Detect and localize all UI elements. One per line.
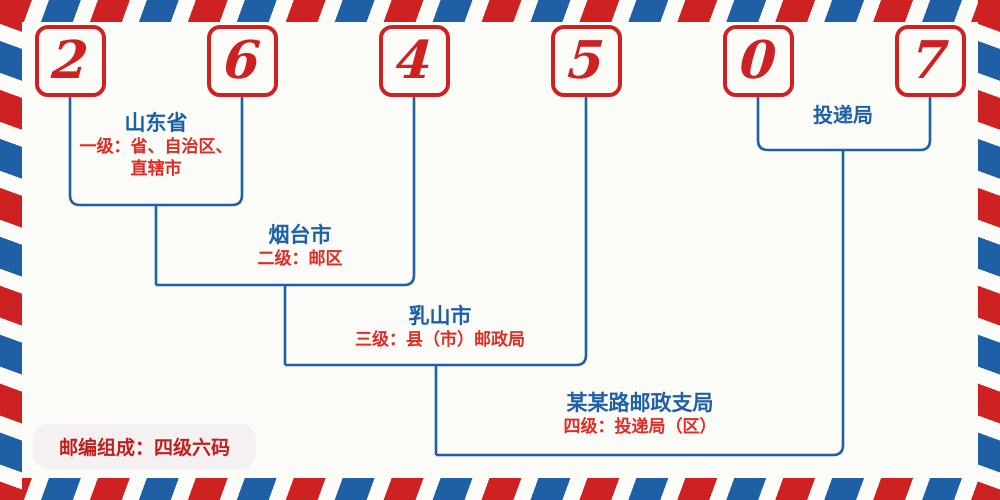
level-3-label: 乳山市 三级：县（市）邮政局: [295, 303, 585, 351]
postcode-digit-1[interactable]: 2: [35, 25, 106, 97]
level-1-label: 山东省 一级：省、自治区、直辖市: [76, 110, 236, 180]
level-2-name: 烟台市: [180, 222, 420, 248]
delivery-office-group-label: 投递局: [763, 103, 923, 128]
level-1-desc: 一级：省、自治区、直辖市: [76, 136, 236, 180]
level-3-name: 乳山市: [295, 303, 585, 329]
digit-value: 6: [223, 35, 263, 87]
level-3-desc: 三级：县（市）邮政局: [295, 329, 585, 351]
delivery-office-title: 投递局: [763, 103, 923, 128]
postcode-digit-6[interactable]: 7: [895, 25, 966, 97]
postcode-digit-4[interactable]: 5: [551, 25, 622, 97]
postcode-digit-5[interactable]: 0: [723, 25, 794, 97]
level-2-desc: 二级：邮区: [180, 248, 420, 270]
level-1-name: 山东省: [76, 110, 236, 136]
digit-value: 2: [51, 35, 91, 87]
postcode-digit-3[interactable]: 4: [379, 25, 450, 97]
digit-value: 7: [911, 35, 951, 87]
digit-value: 4: [395, 35, 435, 87]
level-4-name: 某某路邮政支局: [500, 390, 780, 416]
postcode-digit-2[interactable]: 6: [207, 25, 278, 97]
level-4-desc: 四级：投递局（区）: [500, 416, 780, 438]
envelope-postcode-diagram: 2 6 4 5 0 7 投递局 山东省 一级：省、自治区、直辖市 烟台市 二级：…: [0, 0, 1000, 500]
digit-value: 0: [739, 35, 779, 87]
level-4-label: 某某路邮政支局 四级：投递局（区）: [500, 390, 780, 438]
postcode-composition-note: 邮编组成：四级六码: [33, 424, 256, 469]
digit-value: 5: [567, 35, 607, 87]
level-2-label: 烟台市 二级：邮区: [180, 222, 420, 270]
